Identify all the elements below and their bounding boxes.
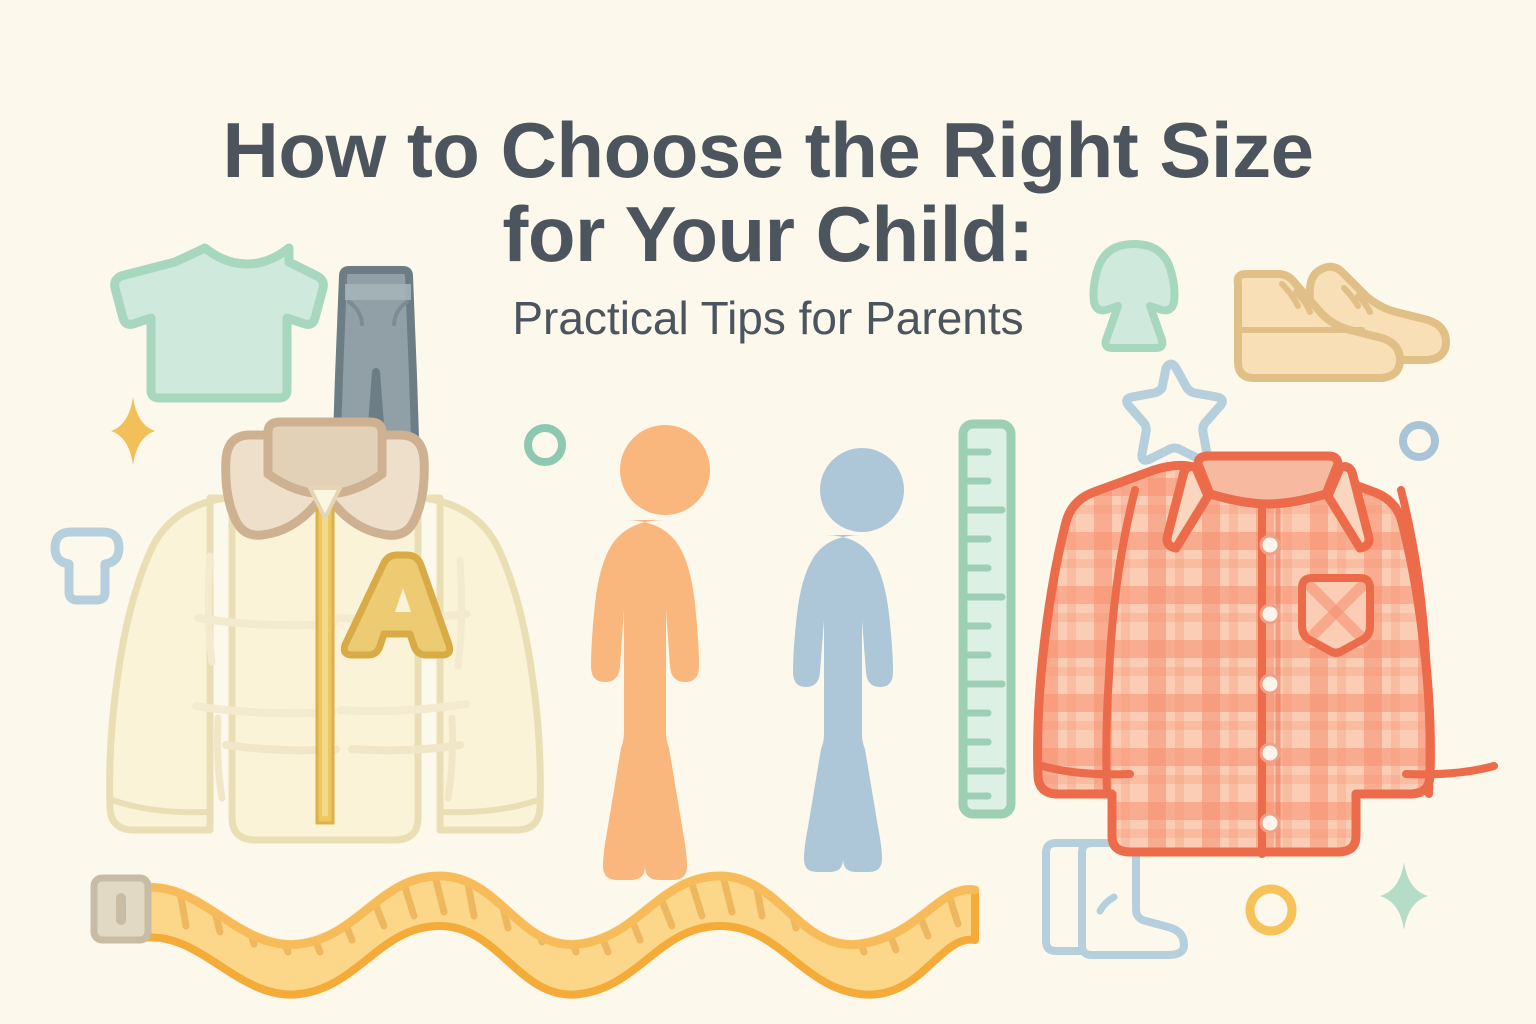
shirt-button [1261,744,1279,762]
measuring-ruler [963,424,1011,814]
shirt-button [1261,675,1279,693]
shirt-button [1261,536,1279,554]
illustration-stage [0,0,1536,1024]
onesie-mint-icon [1094,244,1175,348]
measuring-tape-clip [94,878,148,940]
scene-graphics [0,0,1536,1024]
shirt-chest-pocket [1298,574,1374,653]
shirt-button [1261,814,1279,832]
shirt-button [1261,605,1279,623]
